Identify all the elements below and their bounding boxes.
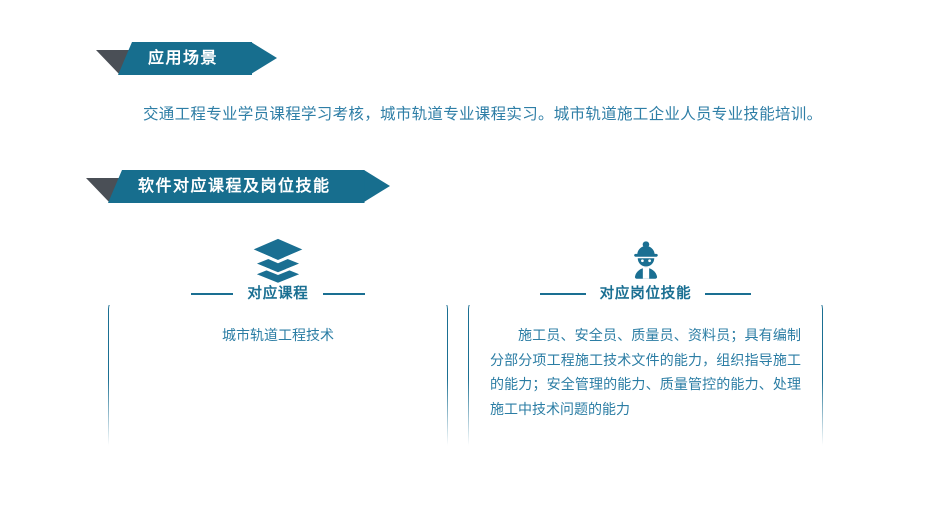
- section-banner-label: 应用场景: [148, 51, 218, 67]
- construction-worker-icon: [619, 237, 673, 283]
- panel-body-courses: 城市轨道工程技术: [108, 323, 448, 348]
- panel-heading-skills: 对应岗位技能: [468, 283, 823, 305]
- panel-heading-courses: 对应课程: [108, 283, 448, 305]
- heading-rule-left: [191, 293, 233, 295]
- panel-corresponding-job-skills: 对应岗位技能 施工员、安全员、质量员、资料员；具有编制分部分项工程施工技术文件的…: [468, 295, 823, 455]
- heading-rule-right: [323, 293, 365, 295]
- panel-body-skills: 施工员、安全员、质量员、资料员；具有编制分部分项工程施工技术文件的能力，组织指导…: [468, 323, 823, 421]
- banner-body: 应用场景: [118, 42, 252, 75]
- scenario-paragraph: 交通工程专业学员课程学习考核，城市轨道专业课程实习。城市轨道施工企业人员专业技能…: [143, 103, 863, 128]
- section-banner-courses-skills: 软件对应课程及岗位技能: [86, 170, 390, 203]
- section-banner-label: 软件对应课程及岗位技能: [138, 179, 331, 195]
- panel-corresponding-courses: 对应课程 城市轨道工程技术: [108, 295, 448, 455]
- panel-heading-label: 对应岗位技能: [600, 287, 692, 302]
- banner-body: 软件对应课程及岗位技能: [108, 170, 365, 203]
- layers-stack-icon: [251, 237, 305, 283]
- banner-arrow-icon: [251, 42, 277, 74]
- panel-frame: [108, 295, 448, 455]
- slide-canvas: 应用场景 交通工程专业学员课程学习考核，城市轨道专业课程实习。城市轨道施工企业人…: [0, 0, 950, 531]
- section-banner-scenario: 应用场景: [96, 42, 277, 75]
- heading-rule-left: [540, 293, 586, 295]
- panel-heading-label: 对应课程: [247, 287, 308, 302]
- banner-arrow-icon: [364, 170, 390, 202]
- heading-rule-right: [705, 293, 751, 295]
